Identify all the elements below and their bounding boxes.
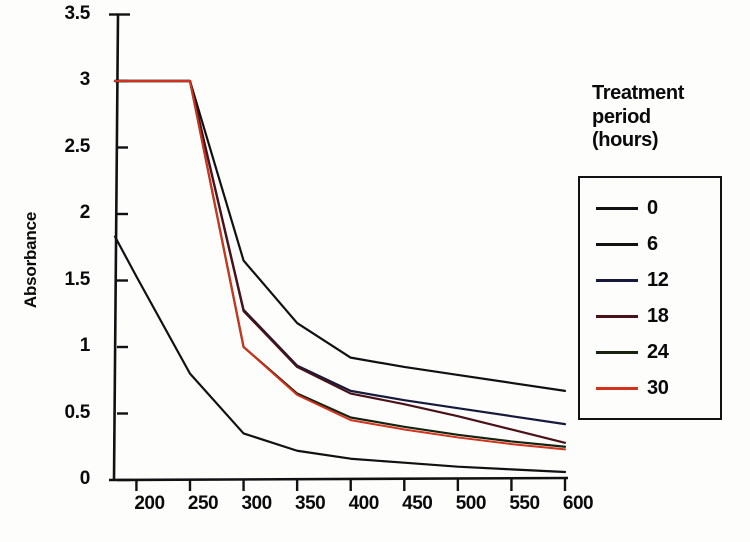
legend-line-swatch	[596, 243, 638, 246]
x-axis-line	[109, 478, 568, 480]
x-axis-tick-label: 400	[336, 493, 392, 515]
legend-title-line-2: period	[592, 106, 742, 130]
series-line-24h	[115, 81, 565, 447]
x-axis-tick-label: 550	[496, 493, 552, 515]
x-axis-tick-label: 300	[229, 493, 285, 515]
y-axis-tick-label: 1	[34, 335, 90, 357]
y-axis-tick-label: 2	[34, 202, 90, 224]
series-line-12h	[115, 81, 565, 424]
x-axis-tick-label: 600	[550, 493, 606, 515]
legend-item-24h[interactable]: 24	[578, 337, 722, 367]
y-axis-tick-label: 0	[34, 468, 90, 490]
legend-line-swatch	[596, 387, 638, 390]
legend-item-12h[interactable]: 12	[578, 265, 722, 295]
y-axis-tick-label: 0.5	[34, 402, 90, 424]
legend-item-0h[interactable]: 0	[578, 193, 722, 223]
legend-item-label: 30	[647, 377, 668, 400]
series-line-18h	[115, 81, 565, 443]
y-axis-line	[114, 14, 118, 480]
legend-item-label: 24	[647, 341, 668, 364]
legend-title-line-3: (hours)	[592, 129, 742, 153]
series-group	[115, 81, 565, 472]
legend-items: 0612182430	[578, 176, 722, 420]
series-line-30h	[115, 81, 565, 449]
x-axis-tick-label: 500	[443, 493, 499, 515]
x-axis-tick-label: 200	[121, 493, 177, 515]
legend-item-label: 18	[647, 305, 668, 328]
legend-line-swatch	[596, 207, 638, 210]
y-axis-tick-label: 3.5	[34, 3, 90, 25]
legend-item-label: 6	[647, 233, 658, 256]
legend-item-6h[interactable]: 6	[578, 229, 722, 259]
x-axis-tick-label: 250	[175, 493, 231, 515]
y-axis-tick-label: 1.5	[34, 269, 90, 291]
legend-line-swatch	[596, 279, 638, 282]
legend-item-label: 0	[647, 197, 658, 220]
legend-line-swatch	[596, 351, 638, 354]
x-axis-tick-label: 350	[282, 493, 338, 515]
legend-item-label: 12	[647, 269, 668, 292]
chart-page: Absorbance 00.511.522.533.5 200250300350…	[0, 0, 750, 542]
legend-item-30h[interactable]: 30	[578, 373, 722, 403]
y-axis-tick-label: 3	[34, 69, 90, 91]
x-axis-tick-label: 450	[389, 493, 445, 515]
series-line-0h	[115, 237, 565, 472]
y-axis-tick-label: 2.5	[34, 136, 90, 158]
legend-line-swatch	[596, 315, 638, 318]
legend-title-line-1: Treatment	[592, 82, 742, 106]
legend-title: Treatment period (hours)	[592, 82, 742, 153]
series-line-6h	[115, 81, 565, 391]
axis-group	[109, 14, 568, 491]
legend-item-18h[interactable]: 18	[578, 301, 722, 331]
